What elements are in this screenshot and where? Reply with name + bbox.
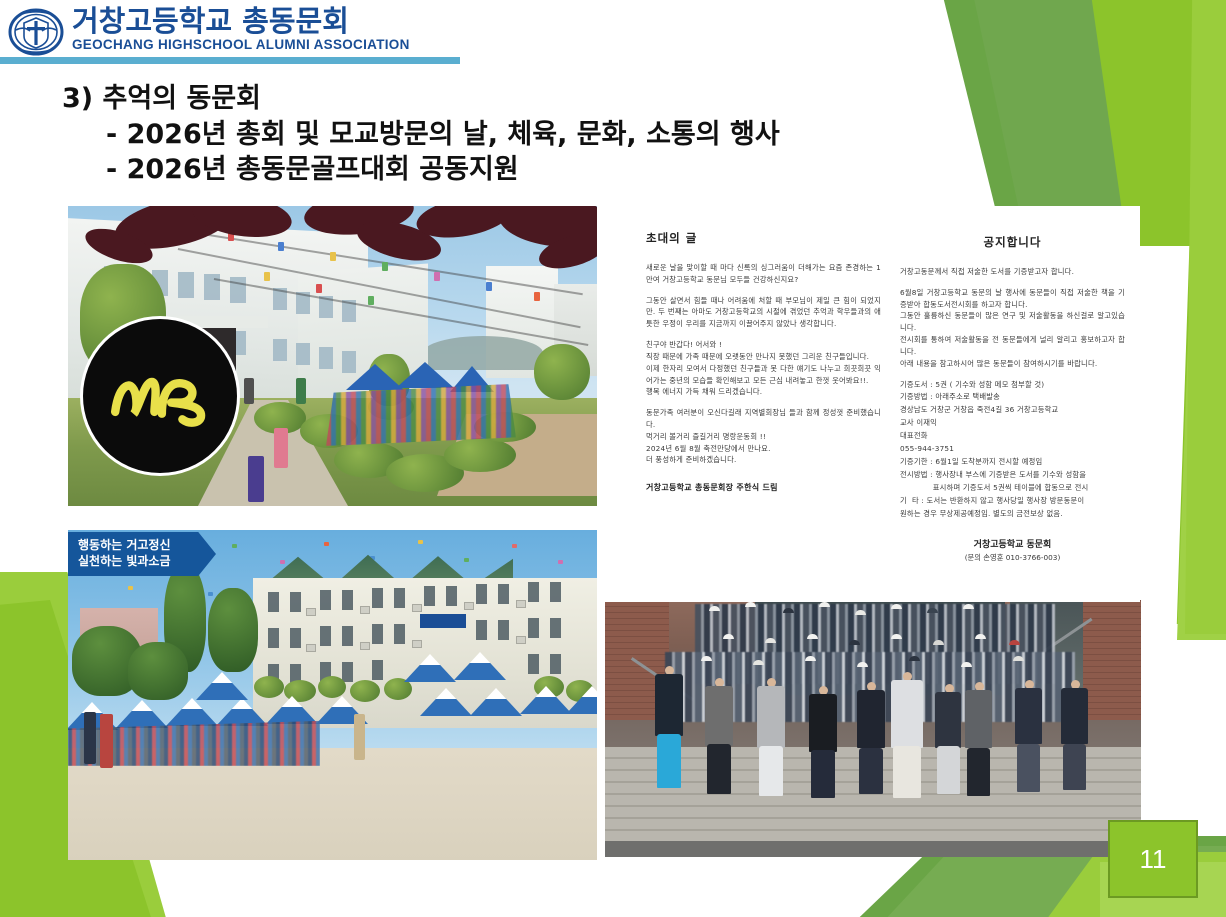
photo-window <box>342 662 353 682</box>
photo-building-banner <box>420 614 466 628</box>
logo-title-korean: 거창고등학교 총동문회 <box>72 6 410 36</box>
alumni-golf-group-photo <box>605 600 1141 857</box>
decor-green-band-top-right-4 <box>1185 0 1226 634</box>
photo-cap <box>805 656 816 661</box>
photo-front-person <box>891 680 923 748</box>
photo-person <box>354 714 365 760</box>
photo-window <box>476 584 487 604</box>
notice-paragraph: 전시회를 통하여 저술활동을 전 동문들에게 널리 알리고 홍보하고자 합니다. <box>900 334 1125 358</box>
photo-cap <box>819 602 830 607</box>
photo-front-person <box>1015 688 1042 744</box>
photo-ac-unit <box>464 602 474 610</box>
photo-window <box>342 626 353 646</box>
heading-main-line: 3) 추억의 동문회 <box>62 82 780 117</box>
notice-detail-line: 기증도서 : 5권 ( 기수와 성함 메모 첨부할 것) <box>900 379 1125 392</box>
photo-front-person-legs <box>657 734 681 788</box>
photo-window <box>394 588 405 608</box>
photo-window <box>273 339 287 361</box>
photo-ac-unit <box>306 644 316 652</box>
photo-person <box>100 714 113 768</box>
heading-sub-line-1: - 2026년 총회 및 모교방문의 날, 체육, 문화, 소통의 행사 <box>62 117 780 152</box>
notice-detail-line: 대표전화 <box>900 430 1125 443</box>
photo-slogan-line-2: 실천하는 빛과소금 <box>78 553 216 569</box>
photo-front-person <box>655 674 683 736</box>
notice-paragraph: 그동안 훌륭하신 동문들이 많은 연구 및 저술활동을 하신걸로 알고있습니다. <box>900 310 1125 334</box>
photo-window <box>342 351 356 373</box>
invitation-title: 초대의 글 <box>646 230 881 246</box>
photo-ac-unit <box>360 642 370 650</box>
logo-text-block: 거창고등학교 총동문회 GEOCHANG HIGHSCHOOL ALUMNI A… <box>72 6 410 53</box>
photo-cap <box>961 662 972 667</box>
photo-cap <box>849 640 860 645</box>
photo-bush <box>254 676 284 698</box>
logo-title-english: GEOCHANG HIGHSCHOOL ALUMNI ASSOCIATION <box>72 38 410 53</box>
photo-front-person <box>857 690 885 748</box>
photo-confetti <box>128 586 133 590</box>
photo-crowd <box>326 384 516 446</box>
photo-window <box>446 586 457 606</box>
photo-tree <box>208 588 258 672</box>
slide-heading-block: 3) 추억의 동문회 - 2026년 총회 및 모교방문의 날, 체육, 문화,… <box>62 82 780 187</box>
photo-window <box>320 590 331 610</box>
photo-confetti <box>558 560 563 564</box>
photo-window <box>290 628 301 648</box>
photo-cap <box>963 604 974 609</box>
invitation-paragraph: 동문가족 여러분이 오신다길래 지역별회장님 들과 함께 정성껏 준비했습니다. <box>646 407 881 431</box>
notice-contact: (문의 손영훈 010-3766-003) <box>900 553 1125 563</box>
photo-window <box>550 618 561 638</box>
notice-detail-line: 기증방법 : 아래주소로 택배발송 <box>900 391 1125 404</box>
photo-window <box>268 628 279 648</box>
photo-cap <box>891 604 902 609</box>
photo-window <box>476 620 487 640</box>
invitation-paragraph: 더 풍성하게 준비하겠습니다. <box>646 454 881 466</box>
photo-window <box>394 624 405 644</box>
photo-window <box>178 272 194 298</box>
notice-detail-line: 055-944-3751 <box>900 443 1125 456</box>
notice-detail-line: 경상남도 거창군 거창읍 죽전4길 36 거창고등학교 <box>900 404 1125 417</box>
invitation-paragraph: 먹거리 볼거리 즐길거리 명랑운동회 !! <box>646 431 881 443</box>
invitation-signature: 거창고등학교 총동문회장 주한식 드림 <box>646 482 881 493</box>
photo-confetti <box>280 560 285 564</box>
photo-flag <box>368 296 374 305</box>
photo-window <box>268 592 279 612</box>
invitation-document: 초대의 글 새로운 날을 맞이할 때 마다 신록의 싱그러움이 더해가는 요즘 … <box>600 206 1140 602</box>
photo-front-person-legs <box>759 746 783 796</box>
photo-cap <box>807 634 818 639</box>
photo-cap <box>723 634 734 639</box>
photo-pavement <box>605 841 1141 857</box>
photo-cap <box>709 606 720 611</box>
photo-window <box>498 620 509 640</box>
photo-confetti <box>418 540 423 544</box>
photo-cap <box>765 638 776 643</box>
photo-cap <box>753 660 764 665</box>
notice-signature: 거창고등학교 동문회 <box>900 537 1125 550</box>
photo-front-person-legs <box>1063 744 1086 790</box>
photo-flag <box>316 284 322 293</box>
photo-front-person <box>935 692 961 748</box>
heading-sub-line-2: - 2026년 총동문골프대회 공동지원 <box>62 152 780 187</box>
invitation-paragraph: 직장 때문에 가족 때문에 오랫동안 만나지 못했던 그리운 친구들입니다. <box>646 351 881 363</box>
photo-cap <box>975 634 986 639</box>
photo-confetti <box>232 544 237 548</box>
photo-tree <box>128 642 188 700</box>
invitation-paragraph: 새로운 날을 맞이할 때 마다 신록의 싱그러움이 더해가는 요즘 존경하는 1… <box>646 262 881 286</box>
photo-ac-unit <box>360 606 370 614</box>
photo-person <box>84 712 96 764</box>
school-festival-photo <box>68 206 597 506</box>
photo-bush <box>284 680 316 702</box>
photo-confetti <box>512 544 517 548</box>
notice-detail-line: 기 타 : 도서는 반환하지 않고 행사당일 행사장 방문동문이 <box>900 495 1125 508</box>
invitation-paragraph: 그동안 살면서 힘들 때나 어려움에 처할 때 부모님이 제일 큰 힘이 되었지… <box>646 295 881 330</box>
photo-confetti <box>324 542 329 546</box>
photo-bush <box>318 676 346 698</box>
photo-bush <box>444 438 516 472</box>
notice-detail-line: 기증기한 : 6월1일 도착분까지 전시할 예정임 <box>900 456 1125 469</box>
photo-flag <box>486 282 492 291</box>
photo-window <box>528 582 539 602</box>
decor-green-band-right-2 <box>1150 0 1226 640</box>
invitation-paragraph: 2024년 6월 8월 축전만당에서 만나요. <box>646 443 881 455</box>
photo-window <box>342 590 353 610</box>
photo-cap <box>927 608 938 613</box>
photo-ac-unit <box>412 604 422 612</box>
school-crest-icon <box>8 8 64 56</box>
photo-window <box>290 592 301 612</box>
photo-tree <box>534 344 590 400</box>
invitation-paragraph: 행복 에너지 가득 채워 드리겠습니다. <box>646 386 881 398</box>
photo-person <box>248 456 264 502</box>
slide-canvas: 거창고등학교 총동문회 GEOCHANG HIGHSCHOOL ALUMNI A… <box>0 0 1226 917</box>
photo-front-person <box>1061 688 1088 744</box>
photo-cap <box>701 656 712 661</box>
photo-confetti <box>208 592 213 596</box>
photo-front-person-legs <box>893 746 921 798</box>
photo-window <box>424 586 435 606</box>
photo-window <box>550 582 561 602</box>
photo-front-person-legs <box>707 744 731 794</box>
photo-flag <box>434 272 440 281</box>
photo-cap <box>745 602 756 607</box>
photo-flag <box>330 252 336 261</box>
photo-ac-unit <box>412 640 422 648</box>
photo-person <box>274 428 288 468</box>
photo-window <box>498 584 509 604</box>
photo-window <box>528 654 539 674</box>
invitation-left-column: 초대의 글 새로운 날을 맞이할 때 마다 신록의 싱그러움이 더해가는 요즘 … <box>646 206 881 493</box>
photo-front-person-legs <box>967 748 990 796</box>
notice-right-column: 공지합니다 거창고동문께서 직접 저술한 도서를 기증받고자 합니다. 6월8일… <box>900 206 1125 563</box>
page-number-badge: 11 <box>1108 820 1198 898</box>
photo-front-person <box>965 690 992 748</box>
photo-flag <box>382 262 388 271</box>
photo-window <box>550 654 561 674</box>
photo-flag <box>534 292 540 301</box>
photo-front-person <box>757 686 785 748</box>
notice-paragraph: 거창고동문께서 직접 저술한 도서를 기증받고자 합니다. <box>900 266 1125 278</box>
notice-detail-line: 전시방법 : 행사장내 부스에 기증받은 도서를 기수와 성함을 <box>900 469 1125 482</box>
mr-logo-watermark <box>80 316 240 476</box>
photo-slogan-line-1: 행동하는 거고정신 <box>78 537 216 553</box>
photo-hill <box>423 336 543 370</box>
notice-detail-line: 원하는 경우 무상제공예정임. 별도의 금전보상 없음. <box>900 508 1125 521</box>
photo-window <box>319 347 333 369</box>
photo-window <box>372 660 383 680</box>
photo-flag <box>278 242 284 251</box>
photo-person <box>296 378 306 404</box>
school-yard-tents-photo: 행동하는 거고정신 실천하는 빛과소금 <box>68 530 597 860</box>
photo-cap <box>933 640 944 645</box>
invitation-paragraph: 이제 한자리 모여서 다정했던 친구들과 못 다한 얘기도 나누고 희끗희끗 익… <box>646 363 881 387</box>
photo-front-person <box>705 686 733 746</box>
photo-window <box>372 588 383 608</box>
invitation-paragraph: 친구야 반갑다! 어서와 ! <box>646 339 881 351</box>
header-divider-rule <box>0 57 460 64</box>
photo-cap <box>855 610 866 615</box>
photo-window <box>320 626 331 646</box>
photo-person <box>244 378 254 404</box>
notice-title: 공지합니다 <box>900 234 1125 250</box>
photo-ac-unit <box>306 608 316 616</box>
photo-window <box>528 618 539 638</box>
photo-front-person-legs <box>811 750 835 798</box>
photo-front-person-legs <box>859 748 883 794</box>
notice-detail-line: 표시하며 기증도서 5권씩 테이블에 합동으로 전시 <box>900 482 1125 495</box>
photo-front-person-legs <box>937 746 960 794</box>
notice-paragraph: 아래 내용을 참고하시어 많은 동문들이 참여하시기를 바랍니다. <box>900 358 1125 370</box>
notice-detail-line: 교사 이재익 <box>900 417 1125 430</box>
photo-confetti <box>464 558 469 562</box>
photo-cap <box>1013 656 1024 661</box>
photo-cap <box>909 656 920 661</box>
photo-front-person-legs <box>1017 744 1040 792</box>
photo-flag <box>264 272 270 281</box>
photo-cap <box>857 662 868 667</box>
photo-window <box>372 624 383 644</box>
photo-ac-unit <box>516 636 526 644</box>
photo-bush <box>350 680 380 702</box>
photo-ac-unit <box>516 600 526 608</box>
page-number: 11 <box>1140 844 1167 875</box>
photo-slogan-banner: 행동하는 거고정신 실천하는 빛과소금 <box>68 532 216 576</box>
notice-paragraph: 6월8일 거창고등학교 동문의 날 행사에 동문들이 직접 저술한 책을 기증받… <box>900 287 1125 311</box>
photo-cap <box>783 608 794 613</box>
photo-cap <box>1009 640 1020 645</box>
photo-window <box>296 343 310 365</box>
photo-cap <box>891 634 902 639</box>
photo-front-person <box>809 694 837 752</box>
